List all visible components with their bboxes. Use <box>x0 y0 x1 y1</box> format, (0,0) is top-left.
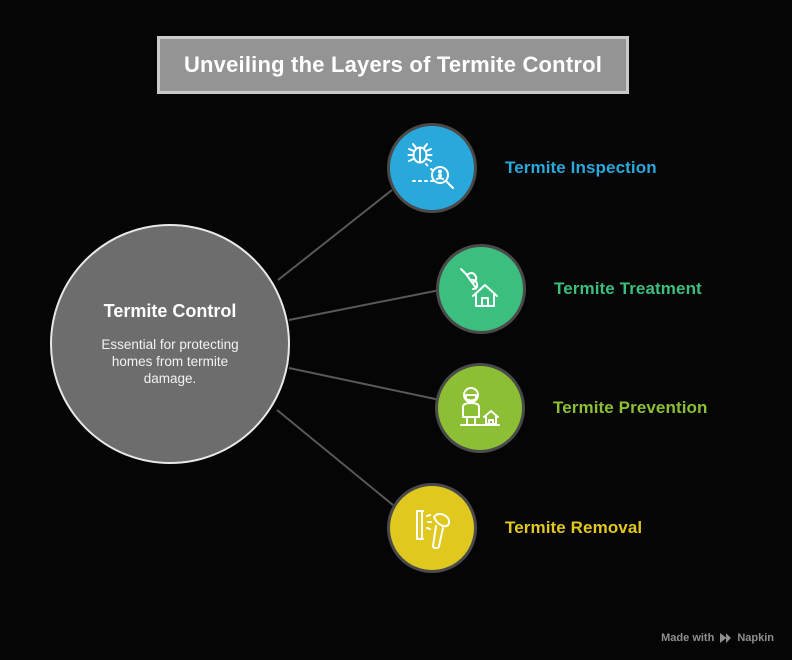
hammer-wood-icon <box>405 501 459 555</box>
branch-label-prevention: Termite Prevention <box>553 398 708 418</box>
footer-made-with-text: Made with <box>661 632 714 644</box>
connector-to-prevention <box>289 368 440 400</box>
bug-magnifier-icon <box>404 140 460 196</box>
branch-node-removal[interactable] <box>387 483 477 573</box>
central-node-description: Essential for protecting homes from term… <box>85 336 255 387</box>
branch-label-inspection: Termite Inspection <box>505 158 657 178</box>
napkin-logo-icon <box>719 632 732 644</box>
branch-node-inspection[interactable] <box>387 123 477 213</box>
diagram-canvas: Unveiling the Layers of Termite Control … <box>0 0 792 660</box>
central-node-title: Termite Control <box>104 301 237 322</box>
connector-to-inspection <box>278 190 392 280</box>
connector-to-treatment <box>289 290 440 320</box>
branch-node-prevention[interactable] <box>435 363 525 453</box>
central-node[interactable]: Termite Control Essential for protecting… <box>50 224 290 464</box>
footer-brand-name: Napkin <box>737 632 774 644</box>
branch-node-treatment[interactable] <box>436 244 526 334</box>
footer-attribution: Made with Napkin <box>661 632 774 644</box>
connector-to-removal <box>277 410 393 505</box>
person-house-icon <box>453 381 507 435</box>
spray-house-icon <box>454 262 508 316</box>
branch-label-treatment: Termite Treatment <box>554 279 702 299</box>
branch-label-removal: Termite Removal <box>505 518 642 538</box>
